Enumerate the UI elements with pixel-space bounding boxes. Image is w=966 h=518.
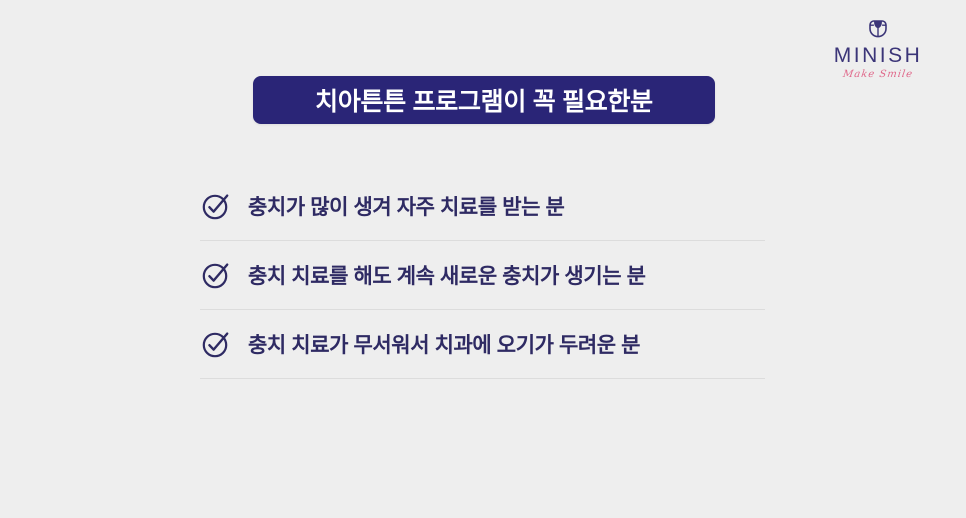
list-item: 충치 치료를 해도 계속 새로운 충치가 생기는 분 [200, 241, 765, 309]
check-circle-icon [200, 259, 232, 291]
list-item: 충치가 많이 생겨 자주 치료를 받는 분 [200, 172, 765, 240]
list-divider [200, 378, 765, 379]
check-circle-icon [200, 190, 232, 222]
list-item-label: 충치 치료를 해도 계속 새로운 충치가 생기는 분 [248, 260, 646, 290]
list-item: 충치 치료가 무서워서 치과에 오기가 두려운 분 [200, 310, 765, 378]
check-circle-icon [200, 328, 232, 360]
page-title: 치아튼튼 프로그램이 꼭 필요한분 [315, 82, 653, 118]
brand-logo: MINISH Make Smile [818, 14, 938, 80]
list-item-label: 충치가 많이 생겨 자주 치료를 받는 분 [248, 191, 564, 221]
list-item-label: 충치 치료가 무서워서 치과에 오기가 두려운 분 [248, 329, 640, 359]
title-banner: 치아튼튼 프로그램이 꼭 필요한분 [253, 76, 715, 124]
logo-wordmark: MINISH [818, 45, 938, 67]
logo-tagline: Make Smile [817, 69, 939, 80]
checklist: 충치가 많이 생겨 자주 치료를 받는 분 충치 치료를 해도 계속 새로운 충… [200, 172, 765, 379]
tulip-icon [818, 14, 938, 44]
